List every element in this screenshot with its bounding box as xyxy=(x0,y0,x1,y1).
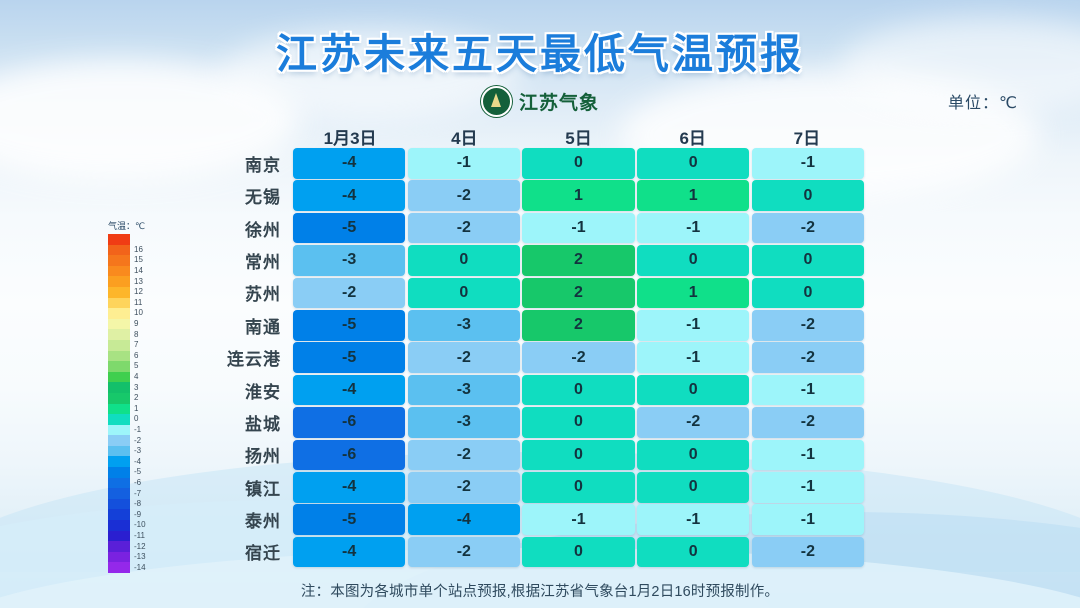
temperature-cell: -2 xyxy=(637,407,749,438)
legend-tick-label: -12 xyxy=(134,543,146,551)
temperature-cell: 0 xyxy=(752,278,864,309)
legend-row: -10 xyxy=(108,520,130,531)
brand-logo: 江苏气象 xyxy=(0,86,1080,117)
legend-swatch xyxy=(108,361,130,372)
forecast-table: 1月3日4日5日6日7日 南京-4-100-1无锡-4-2110徐州-5-2-1… xyxy=(196,124,864,569)
legend-row: 11 xyxy=(108,298,130,309)
legend-tick-label: -6 xyxy=(134,479,141,487)
temperature-cell: 0 xyxy=(522,537,634,568)
legend-row: 2 xyxy=(108,393,130,404)
table-row: 宿迁-4-200-2 xyxy=(196,537,864,568)
legend-tick-label: -3 xyxy=(134,447,141,455)
temperature-cell: 0 xyxy=(637,375,749,406)
city-label: 无锡 xyxy=(196,183,293,208)
temperature-cell: -5 xyxy=(293,342,405,373)
column-header-2: 4日 xyxy=(407,124,521,149)
city-label: 镇江 xyxy=(196,475,293,500)
table-row: 徐州-5-2-1-1-2 xyxy=(196,213,864,244)
temperature-cell: -2 xyxy=(408,213,520,244)
temperature-cell: -2 xyxy=(408,440,520,471)
temperature-cell: -4 xyxy=(293,180,405,211)
legend-tick-label: -14 xyxy=(134,564,146,572)
temperature-cell: 0 xyxy=(408,278,520,309)
legend-tick-label: 1 xyxy=(134,405,138,413)
table-row: 南京-4-100-1 xyxy=(196,148,864,179)
legend-tick-label: -8 xyxy=(134,500,141,508)
temperature-cell: -1 xyxy=(752,472,864,503)
legend-swatch xyxy=(108,234,130,245)
footnote: 注：本图为各城市单个站点预报,根据江苏省气象台1月2日16时预报制作。 xyxy=(0,580,1080,601)
legend-swatch xyxy=(108,435,130,446)
legend-swatch xyxy=(108,520,130,531)
city-label: 南通 xyxy=(196,313,293,338)
city-label: 淮安 xyxy=(196,378,293,403)
legend-row: 8 xyxy=(108,329,130,340)
legend-swatch xyxy=(108,552,130,563)
legend-tick-label: 7 xyxy=(134,341,138,349)
legend-row: -13 xyxy=(108,552,130,563)
legend-tick-label: 0 xyxy=(134,415,138,423)
legend-swatch xyxy=(108,351,130,362)
temperature-cell: -3 xyxy=(408,375,520,406)
temperature-cell: -2 xyxy=(408,537,520,568)
temperature-cell: 1 xyxy=(637,180,749,211)
temperature-cell: -1 xyxy=(752,375,864,406)
legend-row: -14 xyxy=(108,562,130,573)
temperature-cell: 0 xyxy=(522,472,634,503)
temperature-cell: 2 xyxy=(522,310,634,341)
temperature-cell: -2 xyxy=(752,537,864,568)
unit-label: 单位：℃ xyxy=(948,89,1018,113)
city-label: 连云港 xyxy=(196,345,293,370)
city-label: 苏州 xyxy=(196,280,293,305)
temperature-cell: -3 xyxy=(293,245,405,276)
legend-row: -4 xyxy=(108,456,130,467)
temperature-cell: -1 xyxy=(637,310,749,341)
temperature-cell: -1 xyxy=(522,213,634,244)
legend-row: 3 xyxy=(108,382,130,393)
temperature-cell: -1 xyxy=(408,148,520,179)
temperature-cell: -2 xyxy=(752,213,864,244)
legend-swatch xyxy=(108,372,130,383)
temperature-cell: -2 xyxy=(408,180,520,211)
temperature-cell: 1 xyxy=(637,278,749,309)
legend-swatch xyxy=(108,446,130,457)
brand-logo-label: 江苏气象 xyxy=(519,88,599,115)
table-row: 苏州-20210 xyxy=(196,278,864,309)
temperature-cell: -6 xyxy=(293,440,405,471)
legend-row: 5 xyxy=(108,361,130,372)
legend-swatch xyxy=(108,478,130,489)
legend-swatch xyxy=(108,287,130,298)
legend-swatch xyxy=(108,266,130,277)
legend-row: -9 xyxy=(108,509,130,520)
table-row: 泰州-5-4-1-1-1 xyxy=(196,504,864,535)
legend-tick-label: 6 xyxy=(134,352,138,360)
temperature-cell: -4 xyxy=(293,148,405,179)
table-row: 南通-5-32-1-2 xyxy=(196,310,864,341)
temperature-cell: 0 xyxy=(637,245,749,276)
temperature-cell: 1 xyxy=(522,180,634,211)
weather-forecast-infographic: 江苏未来五天最低气温预报 江苏气象 单位：℃ 气温：℃ 161514131211… xyxy=(0,0,1080,608)
legend-row: 0 xyxy=(108,414,130,425)
legend-swatch xyxy=(108,467,130,478)
legend-row: -6 xyxy=(108,478,130,489)
temperature-cell: -2 xyxy=(293,278,405,309)
legend-swatch xyxy=(108,404,130,415)
temperature-cell: 0 xyxy=(752,245,864,276)
temperature-cell: 0 xyxy=(522,407,634,438)
temperature-cell: -2 xyxy=(522,342,634,373)
legend-tick-label: 10 xyxy=(134,309,143,317)
legend-swatch xyxy=(108,276,130,287)
legend-tick-label: 16 xyxy=(134,246,143,254)
legend-row: 15 xyxy=(108,255,130,266)
temperature-cell: -1 xyxy=(522,504,634,535)
temperature-cell: -1 xyxy=(637,213,749,244)
legend-row: 14 xyxy=(108,266,130,277)
table-row: 无锡-4-2110 xyxy=(196,180,864,211)
column-header-3: 5日 xyxy=(521,124,635,149)
legend-swatch xyxy=(108,541,130,552)
legend-row: 6 xyxy=(108,351,130,362)
legend-swatch xyxy=(108,245,130,256)
legend-row: -8 xyxy=(108,499,130,510)
temperature-cell: -5 xyxy=(293,310,405,341)
legend-swatch xyxy=(108,319,130,330)
temperature-cell: 0 xyxy=(522,148,634,179)
legend-row: 13 xyxy=(108,276,130,287)
city-label: 南京 xyxy=(196,151,293,176)
column-header-1: 1月3日 xyxy=(293,124,407,149)
legend-tick-label: 11 xyxy=(134,299,142,307)
temperature-cell: 0 xyxy=(637,472,749,503)
legend-tick-label: 4 xyxy=(134,373,138,381)
legend-row: -12 xyxy=(108,541,130,552)
temperature-cell: -2 xyxy=(408,342,520,373)
bell-emblem-icon xyxy=(481,86,512,117)
temperature-cell: 0 xyxy=(752,180,864,211)
legend-tick-label: -1 xyxy=(134,426,141,434)
legend-tick-label: -11 xyxy=(134,532,145,540)
temperature-cell: 0 xyxy=(522,440,634,471)
city-label: 盐城 xyxy=(196,410,293,435)
legend-swatch xyxy=(108,488,130,499)
legend-swatch xyxy=(108,562,130,573)
legend-tick-label: 5 xyxy=(134,362,138,370)
legend-tick-label: -13 xyxy=(134,553,146,561)
temperature-cell: -4 xyxy=(293,537,405,568)
legend-tick-label: 3 xyxy=(134,384,138,392)
legend-row: 12 xyxy=(108,287,130,298)
temperature-cell: -4 xyxy=(408,504,520,535)
city-label: 泰州 xyxy=(196,507,293,532)
temperature-cell: 0 xyxy=(637,440,749,471)
temperature-cell: 0 xyxy=(408,245,520,276)
legend-swatch xyxy=(108,329,130,340)
legend-tick-label: 8 xyxy=(134,331,138,339)
legend-tick-label: -7 xyxy=(134,490,141,498)
legend-swatch xyxy=(108,531,130,542)
legend-swatch xyxy=(108,499,130,510)
temperature-cell: -5 xyxy=(293,504,405,535)
city-label: 宿迁 xyxy=(196,539,293,564)
legend-row: 9 xyxy=(108,319,130,330)
legend-scale: 161514131211109876543210-1-2-3-4-5-6-7-8… xyxy=(108,234,130,573)
legend-tick-label: -4 xyxy=(134,458,141,466)
legend-row: 7 xyxy=(108,340,130,351)
legend-row: -11 xyxy=(108,531,130,542)
legend-row: -2 xyxy=(108,435,130,446)
temperature-cell: -1 xyxy=(752,440,864,471)
temperature-cell: -1 xyxy=(637,504,749,535)
legend-tick-label: -9 xyxy=(134,511,141,519)
legend-swatch xyxy=(108,255,130,266)
legend-swatch xyxy=(108,393,130,404)
temperature-cell: -4 xyxy=(293,375,405,406)
legend-swatch xyxy=(108,308,130,319)
temperature-cell: -2 xyxy=(752,407,864,438)
temperature-cell: -6 xyxy=(293,407,405,438)
legend-row: -1 xyxy=(108,425,130,436)
legend-tick-label: 15 xyxy=(134,256,143,264)
column-header-5: 7日 xyxy=(750,124,864,149)
legend-swatch xyxy=(108,456,130,467)
legend-tick-label: 14 xyxy=(134,267,143,275)
temperature-cell: -5 xyxy=(293,213,405,244)
temperature-cell: 0 xyxy=(637,148,749,179)
legend-tick-label: 9 xyxy=(134,320,138,328)
legend-swatch xyxy=(108,298,130,309)
temperature-cell: 2 xyxy=(522,278,634,309)
legend-tick-label: -2 xyxy=(134,437,141,445)
temperature-cell: 2 xyxy=(522,245,634,276)
table-row: 淮安-4-300-1 xyxy=(196,375,864,406)
table-row: 常州-30200 xyxy=(196,245,864,276)
legend-tick-label: -5 xyxy=(134,468,141,476)
legend-row: 16 xyxy=(108,245,130,256)
legend-row: -3 xyxy=(108,446,130,457)
legend-swatch xyxy=(108,382,130,393)
page-title: 江苏未来五天最低气温预报 xyxy=(0,20,1080,80)
temperature-cell: -2 xyxy=(752,310,864,341)
temperature-cell: -1 xyxy=(752,504,864,535)
city-label: 扬州 xyxy=(196,442,293,467)
legend-swatch xyxy=(108,340,130,351)
temperature-cell: 0 xyxy=(522,375,634,406)
city-label: 常州 xyxy=(196,248,293,273)
table-row: 连云港-5-2-2-1-2 xyxy=(196,342,864,373)
column-header-4: 6日 xyxy=(636,124,750,149)
temperature-legend: 气温：℃ 161514131211109876543210-1-2-3-4-5-… xyxy=(108,219,166,573)
legend-row: -5 xyxy=(108,467,130,478)
table-header-row: 1月3日4日5日6日7日 xyxy=(196,124,864,148)
city-label: 徐州 xyxy=(196,216,293,241)
table-body: 南京-4-100-1无锡-4-2110徐州-5-2-1-1-2常州-30200苏… xyxy=(196,148,864,567)
temperature-cell: -3 xyxy=(408,310,520,341)
legend-swatch xyxy=(108,509,130,520)
legend-tick-label: 13 xyxy=(134,278,143,286)
legend-tick-label: -10 xyxy=(134,521,146,529)
legend-row: 1 xyxy=(108,404,130,415)
legend-row: 10 xyxy=(108,308,130,319)
legend-swatch xyxy=(108,425,130,436)
temperature-cell: -3 xyxy=(408,407,520,438)
legend-title: 气温：℃ xyxy=(108,219,166,232)
temperature-cell: -1 xyxy=(752,148,864,179)
temperature-cell: -1 xyxy=(637,342,749,373)
table-row: 镇江-4-200-1 xyxy=(196,472,864,503)
legend-row xyxy=(108,234,130,245)
table-row: 盐城-6-30-2-2 xyxy=(196,407,864,438)
legend-row: -7 xyxy=(108,488,130,499)
temperature-cell: -2 xyxy=(408,472,520,503)
temperature-cell: 0 xyxy=(637,537,749,568)
temperature-cell: -2 xyxy=(752,342,864,373)
legend-swatch xyxy=(108,414,130,425)
legend-row: 4 xyxy=(108,372,130,383)
legend-tick-label: 2 xyxy=(134,394,138,402)
temperature-cell: -4 xyxy=(293,472,405,503)
table-row: 扬州-6-200-1 xyxy=(196,440,864,471)
legend-tick-label: 12 xyxy=(134,288,143,296)
